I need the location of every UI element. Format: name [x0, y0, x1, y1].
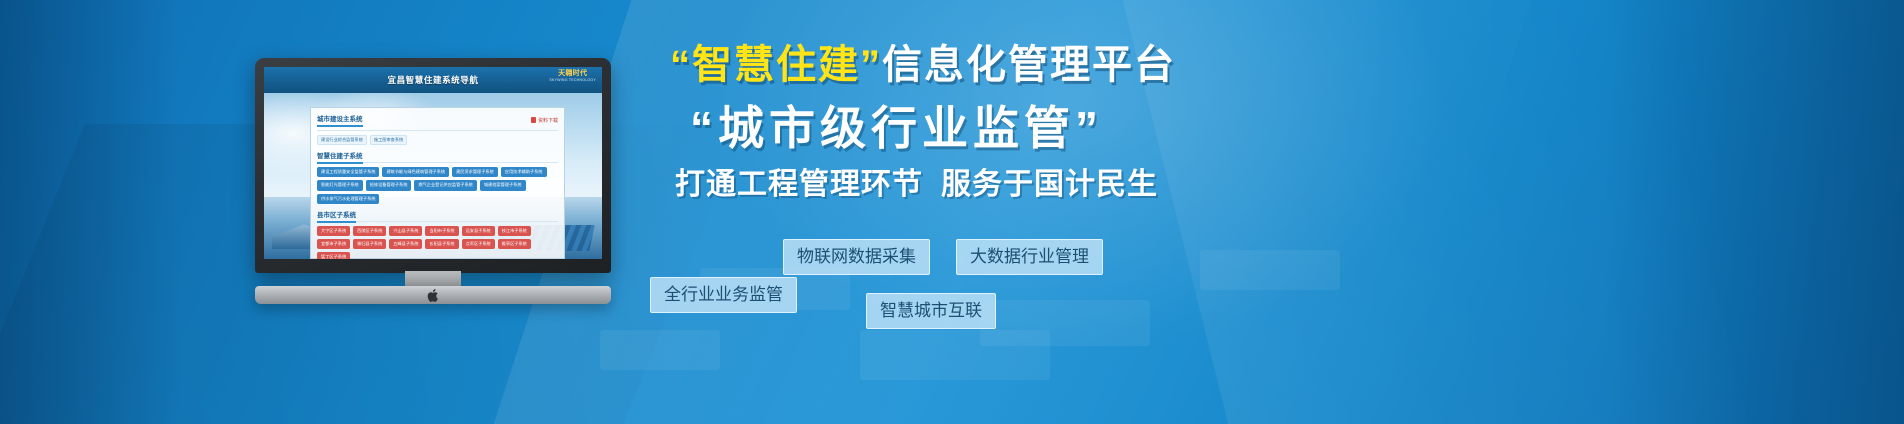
tag-industry-supervision[interactable]: 全行业业务监管	[650, 277, 797, 313]
apple-logo-icon	[427, 288, 440, 303]
tag-bigdata-management[interactable]: 大数据行业管理	[956, 239, 1103, 275]
subheadline-right: 服务于国计民生	[941, 168, 1158, 201]
nav-item[interactable]: 当阳市子系统	[425, 226, 458, 236]
nav-item[interactable]: 兴山县子系统	[389, 226, 422, 236]
tag-smart-city-connect[interactable]: 智慧城市互联	[866, 293, 996, 329]
download-label: 资料下载	[538, 117, 558, 124]
monitor-stand	[255, 286, 611, 304]
nav-item[interactable]: 施工图审查系统	[370, 135, 407, 145]
subheadline: 打通工程管理环节服务于国计民生	[675, 170, 1255, 200]
monitor-illustration: 宜昌智慧住建系统导航 天翱时代 SKYWING TECHNOLOGY 城市建设主…	[255, 58, 611, 303]
headline-primary-close-quote: ”	[860, 43, 882, 87]
nav-item[interactable]: 建设工程质量安全监管子系统	[317, 167, 379, 177]
logo-line-2: SKYWING TECHNOLOGY	[549, 79, 596, 83]
tag-iot-data-collection[interactable]: 物联网数据采集	[783, 239, 930, 275]
screen-nav-panel: 城市建设主系统 资料下载 建设行业综合监管系统 施工图审查系统 智慧住建子系统	[310, 107, 565, 259]
headline-primary: “智慧住建”信息化管理平台	[670, 45, 1230, 85]
headline-primary-keyword: 智慧住建	[692, 43, 860, 87]
nav-item[interactable]: 燃气企业登记供应监管子系统	[414, 180, 476, 190]
nav-item[interactable]: 建筑节能与绿色建筑管理子系统	[382, 167, 449, 177]
headline-group: “智慧住建”信息化管理平台 “城市级行业监管” 打通工程管理环节服务于国计民生	[630, 0, 1270, 424]
logo-line-1: 天翱时代	[549, 70, 596, 77]
monitor-screen: 宜昌智慧住建系统导航 天翱时代 SKYWING TECHNOLOGY 城市建设主…	[264, 67, 602, 259]
section-title-main: 城市建设主系统	[317, 113, 363, 127]
subheadline-left: 打通工程管理环节	[675, 168, 923, 201]
nav-item[interactable]: 远安县子系统	[462, 226, 495, 236]
nav-item[interactable]: 稚亭区子系统	[498, 239, 531, 249]
nav-item[interactable]: 建设行业综合监管系统	[317, 135, 367, 145]
nav-item[interactable]: 秭归县子系统	[353, 239, 386, 249]
banner-root: 宜昌智慧住建系统导航 天翱时代 SKYWING TECHNOLOGY 城市建设主…	[0, 0, 1904, 424]
download-icon	[531, 117, 536, 123]
section-items-sub: 建设工程质量安全监管子系统 建筑节能与绿色建筑管理子系统 建民资求管理子系统 应…	[317, 167, 558, 204]
background-edge-left	[0, 0, 180, 424]
screen-logo: 天翱时代 SKYWING TECHNOLOGY	[549, 70, 596, 83]
download-link[interactable]: 资料下载	[531, 117, 558, 124]
screen-title: 宜昌智慧住建系统导航	[387, 74, 478, 86]
nav-item[interactable]: 西陵区子系统	[353, 226, 386, 236]
section-items-main: 建设行业综合监管系统 施工图审查系统	[317, 135, 558, 145]
section-title-county: 县市区子系统	[317, 209, 558, 222]
nav-item[interactable]: 抢修设备管理子系统	[366, 180, 412, 190]
nav-item[interactable]: 供水排气污水处理管理子系统	[317, 194, 379, 204]
headline-secondary: “城市级行业监管”	[690, 105, 1250, 151]
nav-item[interactable]: 大宁区子系统	[317, 226, 350, 236]
section-title-sub: 智慧住建子系统	[317, 150, 558, 163]
nav-item[interactable]: 五峰县子系统	[389, 239, 422, 249]
nav-item[interactable]: 建民资求管理子系统	[452, 167, 498, 177]
nav-item[interactable]: 宜都市子系统	[317, 239, 350, 249]
nav-item[interactable]: 猛丁区子系统	[317, 252, 350, 259]
monitor-bezel: 宜昌智慧住建系统导航 天翱时代 SKYWING TECHNOLOGY 城市建设主…	[255, 58, 611, 273]
headline-primary-open-quote: “	[670, 43, 692, 87]
panel-header: 城市建设主系统 资料下载	[317, 113, 558, 131]
screen-header-bar: 宜昌智慧住建系统导航 天翱时代 SKYWING TECHNOLOGY	[264, 67, 602, 93]
nav-item[interactable]: 点军区子系统	[462, 239, 495, 249]
nav-item[interactable]: 智能灯光管理子系统	[317, 180, 363, 190]
nav-item[interactable]: 长阳县子系统	[425, 239, 458, 249]
nav-item[interactable]: 应用技术辅助子系统	[501, 167, 547, 177]
section-title-county-text: 县市区子系统	[317, 212, 356, 223]
section-items-county: 大宁区子系统 西陵区子系统 兴山县子系统 当阳市子系统 远安县子系统 枝江市子系…	[317, 226, 558, 259]
headline-primary-rest: 信息化管理平台	[882, 43, 1176, 87]
nav-item[interactable]: 城建档案管理子系统	[480, 180, 526, 190]
background-edge-right	[1604, 0, 1904, 424]
nav-item[interactable]: 枝江市子系统	[498, 226, 531, 236]
section-title-sub-text: 智慧住建子系统	[317, 153, 363, 164]
